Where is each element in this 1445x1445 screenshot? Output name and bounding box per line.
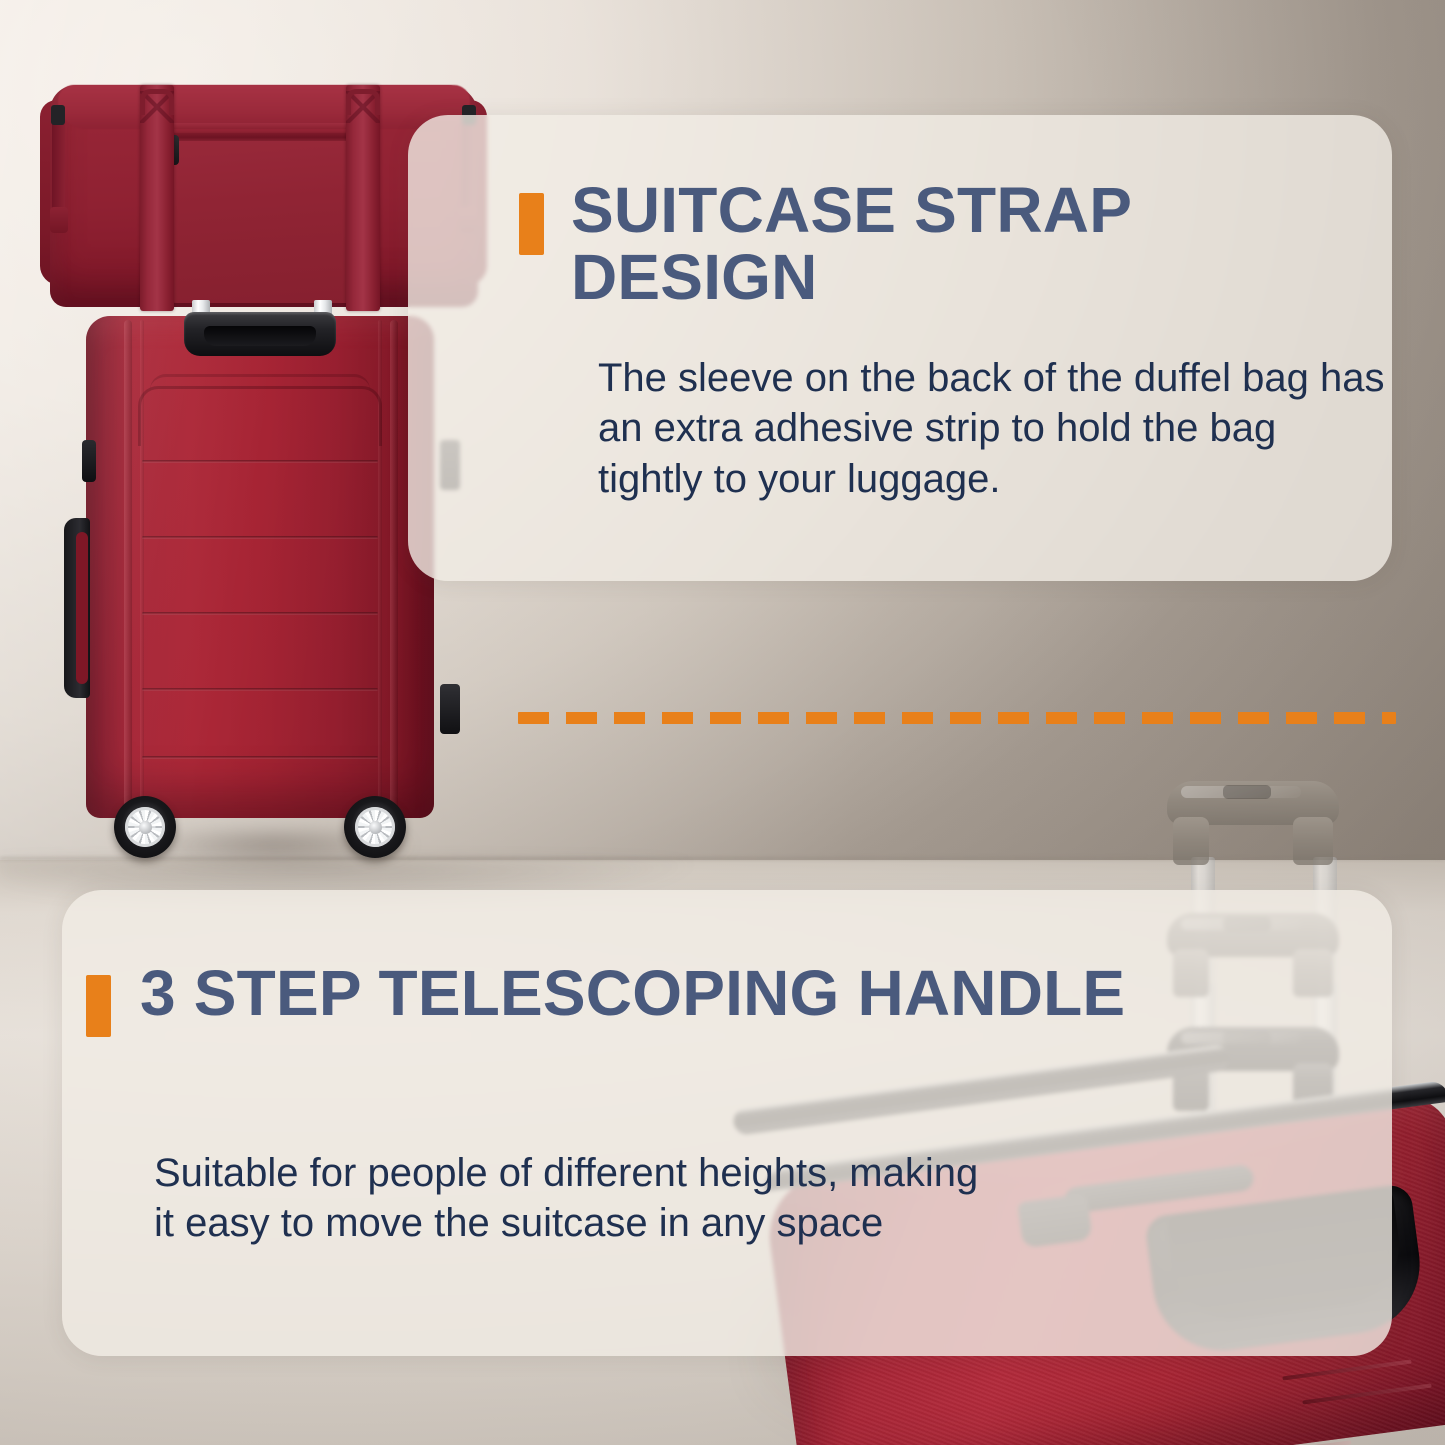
- suitcase-top-handle-recess: [204, 326, 316, 346]
- duffel-clip-left: [51, 105, 65, 125]
- wheel-hub-icon: [355, 807, 395, 847]
- suitcase-rib-rail-left: [124, 320, 132, 814]
- orange-accent-bar: [86, 975, 111, 1037]
- feature-description-telescoping-handle: Suitable for people of different heights…: [154, 1148, 994, 1249]
- duffel-tab-left: [50, 207, 68, 233]
- suitcase-rib-1: [142, 460, 378, 463]
- handle-release-notch-icon: [1223, 785, 1271, 799]
- duffel-pocket-zipper: [166, 133, 372, 141]
- duffel-sleeve-seam: [166, 123, 372, 129]
- suitcase-rib-5: [142, 756, 378, 759]
- suitcase-panel-outline-2: [150, 374, 370, 414]
- orange-dashed-divider: [518, 712, 1396, 724]
- suitcase-rib-4: [142, 688, 378, 691]
- feature-title-suitcase-strap-design: SUITCASE STRAP DESIGN: [571, 177, 1361, 310]
- hardside-suitcase-upright: [66, 300, 456, 900]
- handle-grip-step-1-highest: [1167, 781, 1339, 863]
- tsa-lock-icon: [82, 440, 96, 482]
- feature-title-telescoping-handle: 3 STEP TELESCOPING HANDLE: [140, 960, 1140, 1027]
- duffel-side-strap-left: [52, 109, 65, 219]
- suitcase-rib-3: [142, 612, 378, 615]
- feature-description-suitcase-strap-design: The sleeve on the back of the duffel bag…: [598, 353, 1388, 504]
- handle-grip-leg-left: [1173, 817, 1209, 865]
- suitcase-side-handle-recess: [76, 532, 88, 684]
- spinner-wheel-front-left: [114, 796, 176, 858]
- orange-accent-bar: [519, 193, 544, 255]
- feature-card-telescoping-handle: 3 STEP TELESCOPING HANDLE Suitable for p…: [62, 890, 1392, 1356]
- suitcase-rib-2: [142, 536, 378, 539]
- suitcase-latch-bottom: [440, 684, 460, 734]
- feature-card-suitcase-strap-design: SUITCASE STRAP DESIGN The sleeve on the …: [408, 115, 1392, 581]
- handle-grip-leg-right: [1293, 817, 1333, 865]
- duffel-front-pocket: [164, 135, 374, 303]
- wheel-hub-icon: [125, 807, 165, 847]
- duffel-handle-loop-left: [140, 89, 174, 115]
- duffel-handle-loop-right: [346, 89, 380, 115]
- suitcase-rib-rail-right: [390, 320, 398, 814]
- spinner-wheel-front-right: [344, 796, 406, 858]
